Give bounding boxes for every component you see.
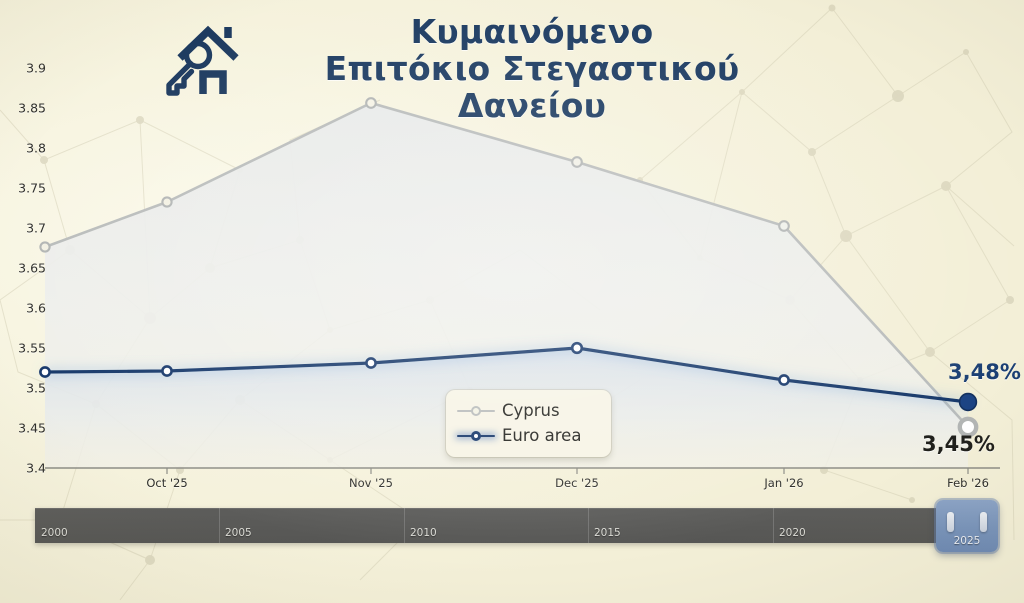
slider-grip-left-icon[interactable] [947,512,954,532]
x-tick-oct25: Oct '25 [146,476,187,490]
y-tick-10: 3.4 [0,461,46,476]
timeline-divider [404,508,405,543]
timeline-slider-handle[interactable]: 2025 [936,500,998,552]
legend-swatch-cyprus-icon [457,403,495,419]
y-tick-2: 3.8 [0,141,46,156]
timeline-year-2010: 2010 [410,527,437,539]
slider-grip-right-icon[interactable] [980,512,987,532]
y-tick-6: 3.6 [0,301,46,316]
chart-canvas: Κυμαινόμενο Επιτόκιο Στεγαστικού Δανείου [0,0,1024,603]
legend-label-euro-area: Euro area [502,426,581,445]
legend-swatch-euro-area-icon [457,428,495,444]
x-axis-ticks [167,468,968,474]
x-tick-jan26: Jan '26 [764,476,803,490]
y-tick-0: 3.9 [0,61,46,76]
chart-legend[interactable]: Cyprus Euro area [446,390,611,457]
legend-item-euro-area[interactable]: Euro area [457,423,601,448]
y-tick-3: 3.75 [0,181,46,196]
cyprus-end-value: 3,45% [922,432,995,456]
y-tick-7: 3.55 [0,341,46,356]
timeline-divider [219,508,220,543]
timeline-divider [773,508,774,543]
legend-item-cyprus[interactable]: Cyprus [457,398,601,423]
y-tick-5: 3.65 [0,261,46,276]
timeline-year-2015: 2015 [594,527,621,539]
timeline-year-2020: 2020 [779,527,806,539]
x-tick-nov25: Nov '25 [349,476,393,490]
x-tick-feb26: Feb '26 [947,476,989,490]
timeline-divider [588,508,589,543]
x-tick-dec25: Dec '25 [555,476,599,490]
y-tick-9: 3.45 [0,421,46,436]
timeline-year-2000: 2000 [41,527,68,539]
y-tick-8: 3.5 [0,381,46,396]
timeline-slider-track[interactable]: 2000 2005 2010 2015 2020 [35,508,955,543]
timeline-handle-label: 2025 [936,535,998,547]
y-tick-4: 3.7 [0,221,46,236]
timeline-year-2005: 2005 [225,527,252,539]
legend-label-cyprus: Cyprus [502,401,560,420]
euro-area-end-value: 3,48% [948,360,1021,384]
y-tick-1: 3.85 [0,101,46,116]
